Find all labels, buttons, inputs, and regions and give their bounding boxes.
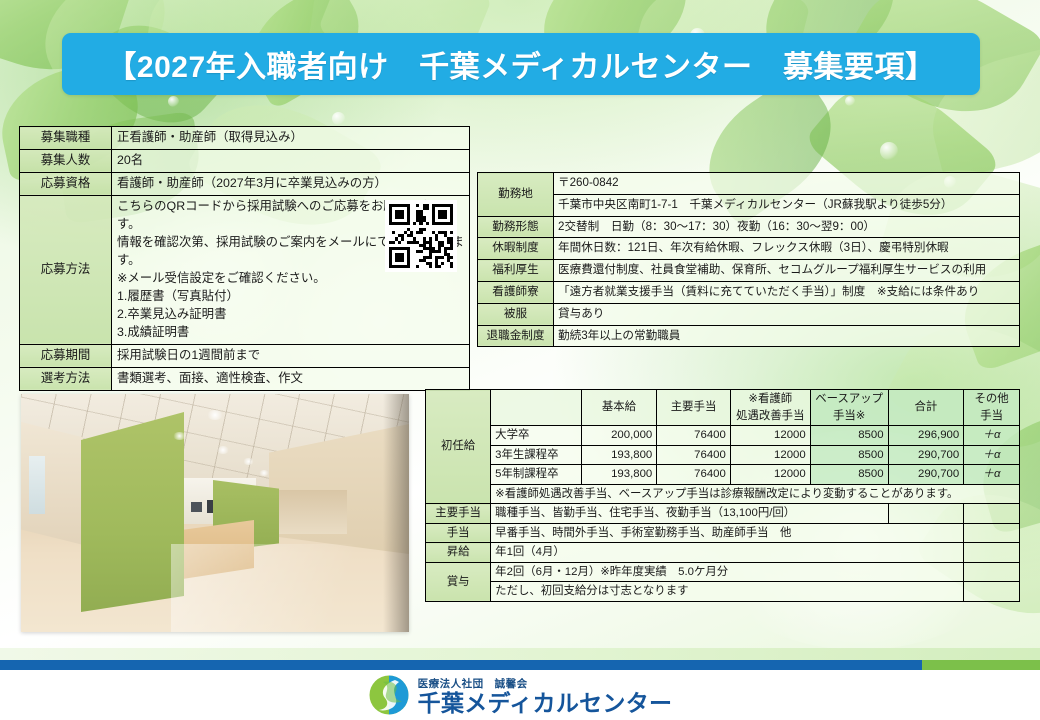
salary-value: 8500 <box>810 426 888 446</box>
row-value: 早番手当、時間外手当、手術室勤務手当、助産師手当 他 <box>491 523 964 543</box>
salary-value: 193,800 <box>581 445 657 465</box>
salary-value: 8500 <box>810 465 888 485</box>
column-header: 合計 <box>888 390 964 426</box>
logo-swirl-icon <box>368 674 410 716</box>
salary-value: 12000 <box>730 465 810 485</box>
row-label: 賞与 <box>426 562 491 601</box>
salary-value: 76400 <box>657 426 731 446</box>
work-conditions-table: 勤務地 〒260-0842 千葉市中央区南町1-7-1 千葉メディカルセンター（… <box>477 172 1020 347</box>
row-label: 退職金制度 <box>478 325 554 347</box>
method-line: ※メール受信設定をご確認ください。 <box>117 270 464 288</box>
salary-category: 大学卒 <box>491 426 581 446</box>
column-header: ベースアップ 手当※ <box>810 390 888 426</box>
application-method-cell: こちらのQRコードから採用試験へのご応募をお願いいたします。 情報を確認次第、採… <box>112 195 470 344</box>
salary-value: 12000 <box>730 445 810 465</box>
table-row: 昇給 年1回（4月） <box>426 543 1020 563</box>
bonus-line: 年2回（6月・12月）※昨年度実績 5.0ケ月分 <box>491 562 964 582</box>
qr-code-icon[interactable] <box>385 200 457 272</box>
row-label: 被服 <box>478 303 554 325</box>
table-row: 休暇制度 年間休日数：121日、年次有給休暇、フレックス休暇（3日）、慶弔特別休… <box>478 238 1020 260</box>
salary-category: 5年制課程卒 <box>491 465 581 485</box>
row-value: 「遠方者就業支援手当（賃料に充てていただく手当）」制度 ※支給には条件あり <box>554 281 1020 303</box>
page-title-banner: 【2027年入職者向け 千葉メディカルセンター 募集要項】 <box>62 33 980 95</box>
salary-group-label: 初任給 <box>426 390 491 504</box>
column-header: その他 手当 <box>964 390 1020 426</box>
row-value: 書類選考、面接、適性検査、作文 <box>112 367 470 390</box>
method-line: 1.履歴書（写真貼付） <box>117 288 464 306</box>
location-postal: 〒260-0842 <box>554 173 1020 195</box>
row-label: 応募方法 <box>20 195 112 344</box>
column-header: ※看護師 処遇改善手当 <box>730 390 810 426</box>
spacer-cell <box>964 543 1020 563</box>
table-row: 手当 早番手当、時間外手当、手術室勤務手当、助産師手当 他 <box>426 523 1020 543</box>
row-label: 勤務地 <box>478 173 554 217</box>
table-row: 応募期間 採用試験日の1週間前まで <box>20 344 470 367</box>
table-row: 退職金制度 勤続3年以上の常勤職員 <box>478 325 1020 347</box>
table-row: 主要手当 職種手当、皆勤手当、住宅手当、夜勤手当（13,100円/回） <box>426 504 1020 524</box>
location-address: 千葉市中央区南町1-7-1 千葉メディカルセンター（JR蘇我駅より徒歩5分） <box>554 194 1020 216</box>
salary-header-row: 初任給 基本給 主要手当 ※看護師 処遇改善手当 ベースアップ 手当※ 合計 <box>426 390 1020 426</box>
row-label: 応募資格 <box>20 172 112 195</box>
table-row: 募集職種 正看護師・助産師（取得見込み） <box>20 127 470 150</box>
table-row: 大学卒 200,000 76400 12000 8500 296,900 ＋α <box>426 426 1020 446</box>
row-label: 募集人数 <box>20 149 112 172</box>
footer-band-accent <box>922 660 1040 670</box>
salary-value: 290,700 <box>888 445 964 465</box>
salary-table: 初任給 基本給 主要手当 ※看護師 処遇改善手当 ベースアップ 手当※ 合計 <box>425 389 1020 602</box>
header-line: 主要手当 <box>661 399 726 416</box>
hospital-corridor-photo <box>21 394 409 632</box>
salary-value: 12000 <box>730 426 810 446</box>
salary-value: 76400 <box>657 445 731 465</box>
header-line: 手当※ <box>815 408 884 425</box>
salary-value: 76400 <box>657 465 731 485</box>
row-label: 主要手当 <box>426 504 491 524</box>
header-line: 合計 <box>893 399 960 416</box>
salary-value: 290,700 <box>888 465 964 485</box>
table-row-application-method: 応募方法 こちらのQRコードから採用試験へのご応募をお願いいたします。 情報を確… <box>20 195 470 344</box>
header-line: ※看護師 <box>735 391 806 408</box>
salary-value: ＋α <box>964 426 1020 446</box>
row-value: 職種手当、皆勤手当、住宅手当、夜勤手当（13,100円/回） <box>491 504 888 524</box>
row-label: 応募期間 <box>20 344 112 367</box>
row-value: 看護師・助産師（2027年3月に卒業見込みの方） <box>112 172 470 195</box>
row-label: 福利厚生 <box>478 260 554 282</box>
header-line: その他 <box>968 391 1015 408</box>
table-row: 福利厚生 医療費還付制度、社員食堂補助、保育所、セコムグループ福利厚生サービスの… <box>478 260 1020 282</box>
row-label: 募集職種 <box>20 127 112 150</box>
salary-value: 200,000 <box>581 426 657 446</box>
row-label: 選考方法 <box>20 367 112 390</box>
column-header: 基本給 <box>581 390 657 426</box>
table-row: 3年生課程卒 193,800 76400 12000 8500 290,700 … <box>426 445 1020 465</box>
footer-fade <box>0 648 1040 660</box>
row-label: 手当 <box>426 523 491 543</box>
column-header-category <box>491 390 581 426</box>
page-title: 【2027年入職者向け 千葉メディカルセンター 募集要項】 <box>106 42 935 86</box>
table-row: 選考方法 書類選考、面接、適性検査、作文 <box>20 367 470 390</box>
salary-value: ＋α <box>964 445 1020 465</box>
spacer-cell <box>964 582 1020 602</box>
row-value: 正看護師・助産師（取得見込み） <box>112 127 470 150</box>
table-row: 5年制課程卒 193,800 76400 12000 8500 290,700 … <box>426 465 1020 485</box>
bonus-line: ただし、初回支給分は寸志となります <box>491 582 964 602</box>
row-label: 看護師寮 <box>478 281 554 303</box>
table-row-location: 勤務地 〒260-0842 <box>478 173 1020 195</box>
organization-subtitle: 医療法人社団 誠馨会 <box>418 676 673 691</box>
salary-footnote: ※看護師処遇改善手当、ベースアップ手当は診療報酬改定により変動することがあります… <box>491 484 1020 504</box>
spacer-cell <box>964 504 1020 524</box>
row-value: 年1回（4月） <box>491 543 964 563</box>
table-row: ただし、初回支給分は寸志となります <box>426 582 1020 602</box>
header-line: ベースアップ <box>815 391 884 408</box>
salary-value: 193,800 <box>581 465 657 485</box>
salary-value: ＋α <box>964 465 1020 485</box>
row-value: 採用試験日の1週間前まで <box>112 344 470 367</box>
header-line: 手当 <box>968 408 1015 425</box>
spacer-cell <box>964 523 1020 543</box>
row-value: 勤続3年以上の常勤職員 <box>554 325 1020 347</box>
table-row-bonus: 賞与 年2回（6月・12月）※昨年度実績 5.0ケ月分 <box>426 562 1020 582</box>
poster-page: 【2027年入職者向け 千葉メディカルセンター 募集要項】 募集職種 正看護師・… <box>0 0 1040 720</box>
footer-band <box>0 660 1040 670</box>
organization-name: 千葉メディカルセンター <box>418 692 673 715</box>
row-label: 昇給 <box>426 543 491 563</box>
row-value: 医療費還付制度、社員食堂補助、保育所、セコムグループ福利厚生サービスの利用 <box>554 260 1020 282</box>
method-line: 2.卒業見込み証明書 <box>117 306 464 324</box>
header-line: 処遇改善手当 <box>735 408 806 425</box>
header-line: 基本給 <box>586 399 653 416</box>
table-row: 募集人数 20名 <box>20 149 470 172</box>
row-value: 20名 <box>112 149 470 172</box>
table-row: 被服 貸与あり <box>478 303 1020 325</box>
table-row: 看護師寮 「遠方者就業支援手当（賃料に充てていただく手当）」制度 ※支給には条件… <box>478 281 1020 303</box>
salary-value: 296,900 <box>888 426 964 446</box>
method-line: 3.成績証明書 <box>117 324 464 342</box>
organization-logo: 医療法人社団 誠馨会 千葉メディカルセンター <box>368 674 673 716</box>
salary-value: 8500 <box>810 445 888 465</box>
spacer-cell <box>964 562 1020 582</box>
column-header: 主要手当 <box>657 390 731 426</box>
row-value: 貸与あり <box>554 303 1020 325</box>
row-label: 勤務形態 <box>478 216 554 238</box>
row-label: 休暇制度 <box>478 238 554 260</box>
table-row: 千葉市中央区南町1-7-1 千葉メディカルセンター（JR蘇我駅より徒歩5分） <box>478 194 1020 216</box>
table-row: 応募資格 看護師・助産師（2027年3月に卒業見込みの方） <box>20 172 470 195</box>
spacer-cell <box>888 504 964 524</box>
row-value: 年間休日数：121日、年次有給休暇、フレックス休暇（3日）、慶弔特別休暇 <box>554 238 1020 260</box>
table-row-footnote: ※看護師処遇改善手当、ベースアップ手当は診療報酬改定により変動することがあります… <box>426 484 1020 504</box>
recruitment-table: 募集職種 正看護師・助産師（取得見込み） 募集人数 20名 応募資格 看護師・助… <box>19 126 470 391</box>
row-value: 2交替制 日勤（8：30～17：30）夜勤（16：30～翌9：00） <box>554 216 1020 238</box>
footer: 医療法人社団 誠馨会 千葉メディカルセンター <box>0 670 1040 720</box>
table-row: 勤務形態 2交替制 日勤（8：30～17：30）夜勤（16：30～翌9：00） <box>478 216 1020 238</box>
salary-category: 3年生課程卒 <box>491 445 581 465</box>
